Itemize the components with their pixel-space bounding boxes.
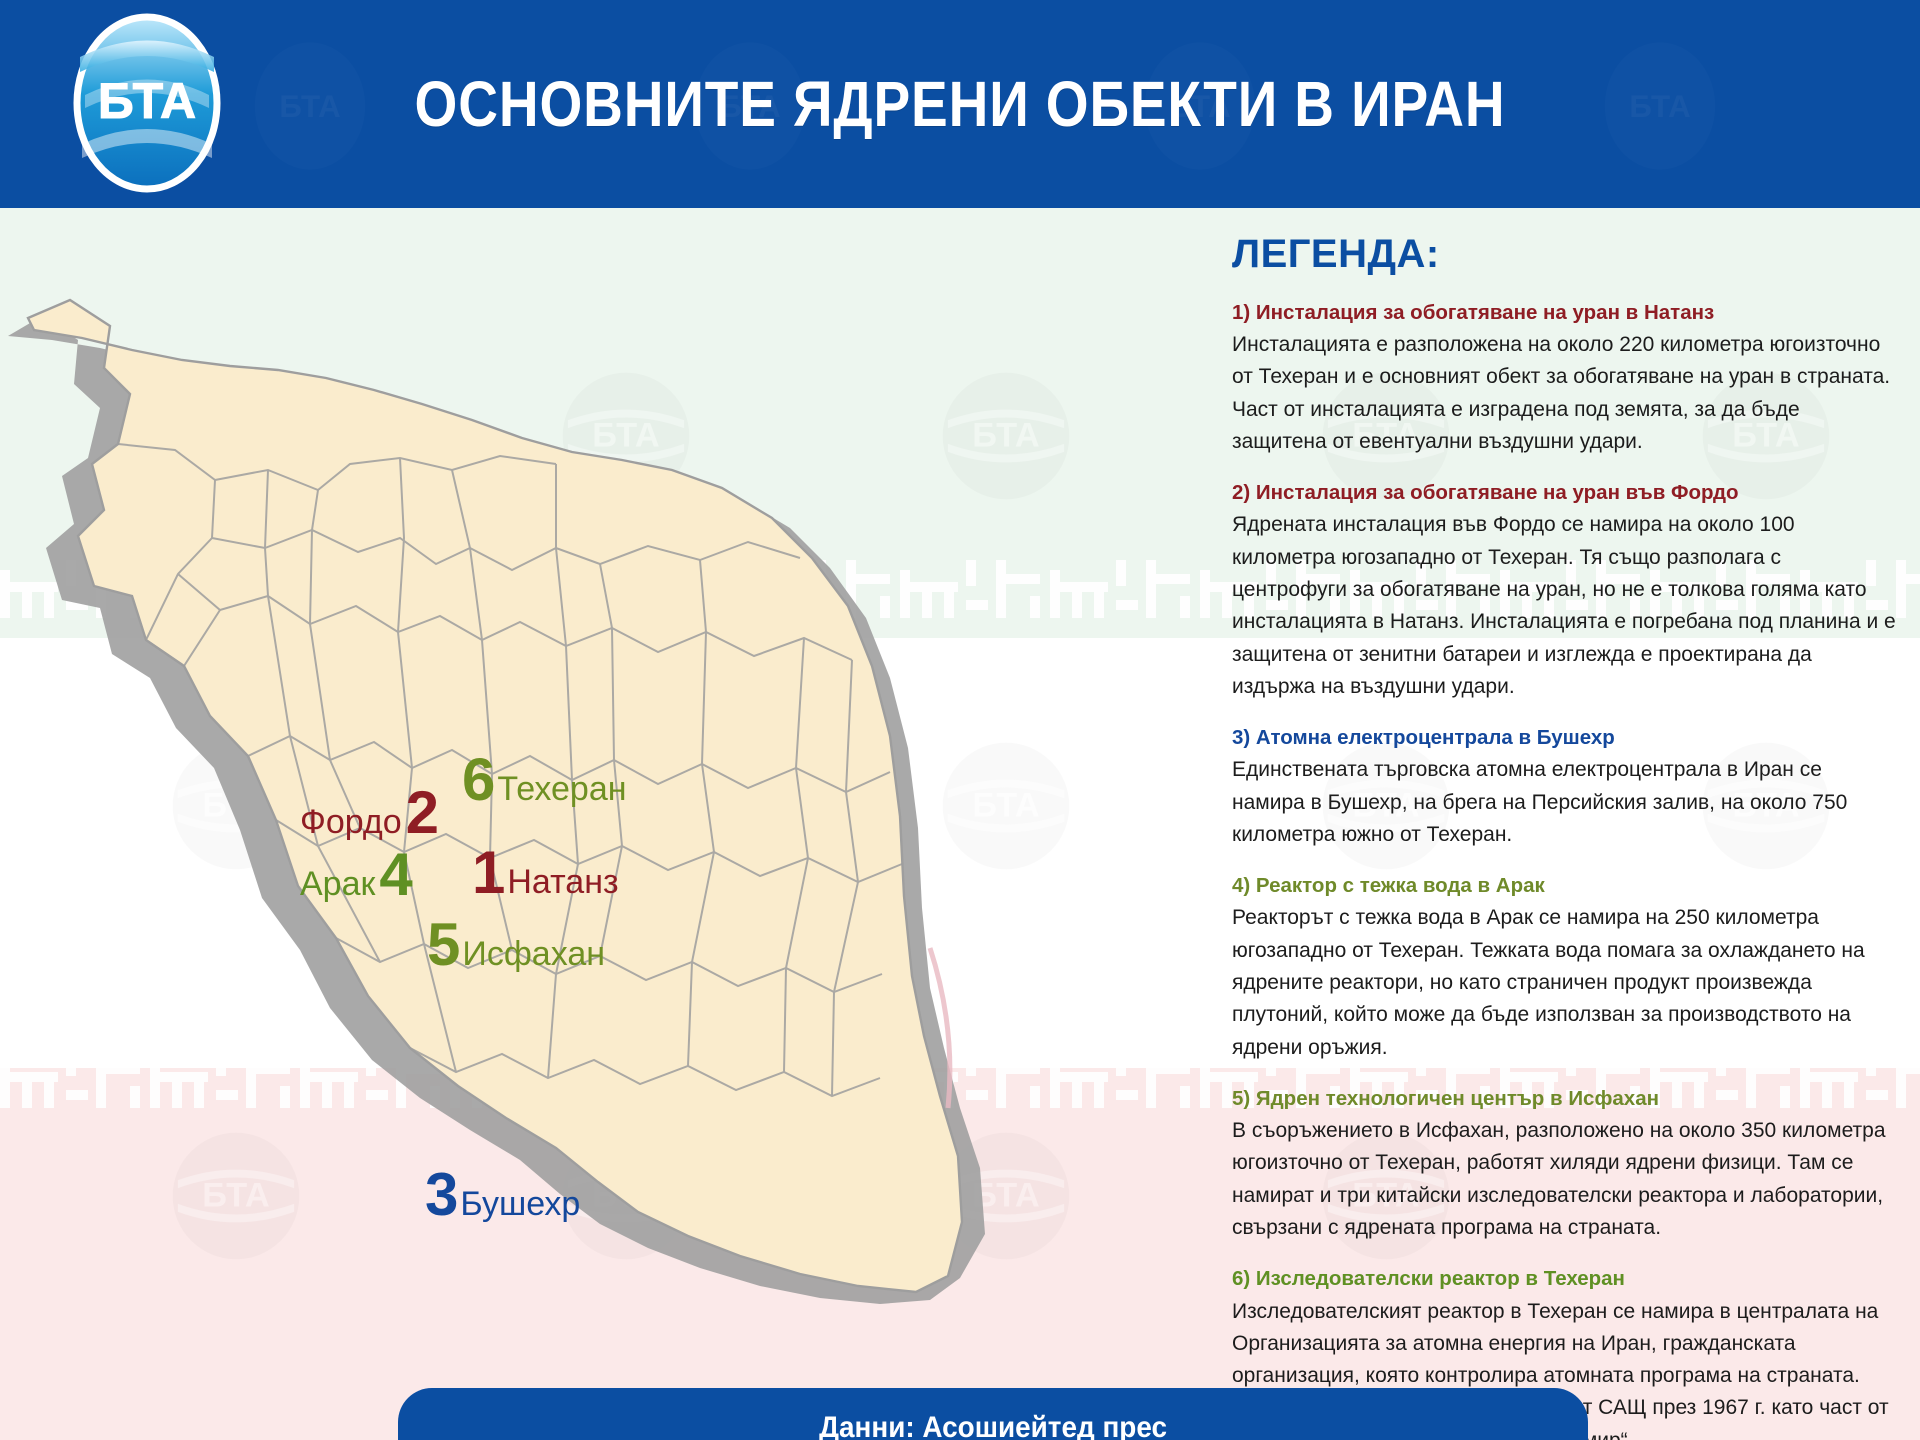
marker-label: Фордо: [300, 805, 402, 839]
marker-number: 1: [472, 846, 505, 900]
legend-item-1: 1) Инсталация за обогатяване на уран в Н…: [1232, 299, 1898, 458]
legend-title: ЛЕГЕНДА:: [1232, 232, 1898, 277]
legend-body: Инсталацията е разположена на около 220 …: [1232, 329, 1898, 458]
legend-heading: 4) Реактор с тежка вода в Арак: [1232, 872, 1898, 899]
svg-text:БТА: БТА: [98, 73, 196, 129]
legend-heading: 2) Инсталация за обогатяване на уран във…: [1232, 479, 1898, 506]
legend-item-2: 2) Инсталация за обогатяване на уран във…: [1232, 479, 1898, 703]
legend-item-4: 4) Реактор с тежка вода в Арак Реакторът…: [1232, 872, 1898, 1064]
legend-body: Ядрената инсталация във Фордо се намира …: [1232, 509, 1898, 703]
infographic-root: БТА БТА БТА БТА БТА БТА: [0, 0, 1920, 1440]
legend-heading: 3) Атомна електроцентрала в Бушехр: [1232, 724, 1898, 751]
legend-heading: 6) Изследователски реактор в Техеран: [1232, 1265, 1898, 1292]
marker-label: Арак: [300, 867, 375, 901]
marker-label: Исфахан: [462, 937, 605, 971]
map-marker-1[interactable]: 1 Натанз: [472, 846, 619, 900]
map-marker-6[interactable]: 6 Техеран: [462, 753, 627, 807]
legend-item-3: 3) Атомна електроцентрала в Бушехр Единс…: [1232, 724, 1898, 851]
map-marker-3[interactable]: 3 Бушехр: [425, 1168, 580, 1222]
marker-number: 5: [427, 918, 460, 972]
iran-map: 1 Натанз 2 Фордо 3 Бушехр 4 Арак 5 Исфах…: [0, 208, 1215, 1440]
legend-body: В съоръжението в Исфахан, разположено на…: [1232, 1115, 1898, 1244]
map-marker-5[interactable]: 5 Исфахан: [427, 918, 605, 972]
marker-label: Натанз: [507, 865, 618, 899]
legend-item-5: 5) Ядрен технологичен център в Исфахан В…: [1232, 1085, 1898, 1244]
marker-label: Бушехр: [460, 1187, 580, 1221]
legend-heading: 1) Инсталация за обогатяване на уран в Н…: [1232, 299, 1898, 326]
marker-number: 6: [462, 753, 495, 807]
map-marker-4[interactable]: 4 Арак: [300, 848, 413, 902]
marker-number: 4: [379, 848, 412, 902]
marker-label: Техеран: [497, 772, 626, 806]
marker-number: 2: [406, 786, 439, 840]
marker-number: 3: [425, 1168, 458, 1222]
source-text: Данни: Асошиейтед прес: [819, 1411, 1167, 1440]
legend-body: Единствената търговска атомна електроцен…: [1232, 754, 1898, 851]
bta-logo-icon: БТА: [52, 12, 242, 194]
page-title: ОСНОВНИТЕ ЯДРЕНИ ОБЕКТИ В ИРАН: [134, 0, 1785, 208]
legend-panel: ЛЕГЕНДА: 1) Инсталация за обогатяване на…: [1232, 232, 1898, 1440]
map-marker-2[interactable]: 2 Фордо: [300, 786, 439, 840]
page-header: БТА БТА БТА БТА: [0, 0, 1920, 208]
source-footer: Данни: Асошиейтед прес: [398, 1388, 1588, 1440]
legend-heading: 5) Ядрен технологичен център в Исфахан: [1232, 1085, 1898, 1112]
legend-body: Реакторът с тежка вода в Арак се намира …: [1232, 902, 1898, 1064]
